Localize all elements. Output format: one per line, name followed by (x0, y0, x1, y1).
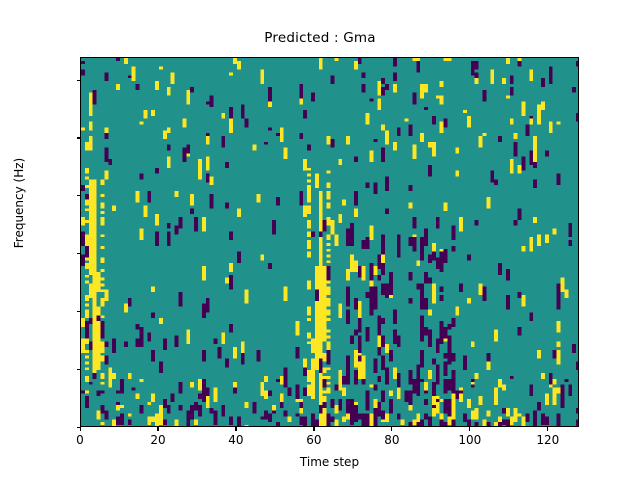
y-tick-mark (77, 137, 81, 138)
x-axis-label: Time step (80, 455, 579, 469)
y-axis-label: Frequency (Hz) (12, 93, 26, 313)
matplotlib-figure: Predicted : Gma 020000400006000080000100… (0, 0, 640, 480)
y-tick-mark (77, 311, 81, 312)
x-tick-mark (80, 427, 81, 431)
heatmap-image (81, 58, 579, 427)
y-tick-mark (77, 369, 81, 370)
x-tick-mark (235, 427, 236, 431)
x-tick-label: 60 (274, 433, 354, 447)
x-tick-label: 100 (430, 433, 510, 447)
heatmap-axes (80, 57, 579, 427)
x-tick-label: 0 (40, 433, 120, 447)
x-tick-mark (391, 427, 392, 431)
chart-title: Predicted : Gma (0, 30, 640, 46)
x-tick-label: 20 (118, 433, 198, 447)
x-tick-mark (547, 427, 548, 431)
x-tick-mark (157, 427, 158, 431)
x-tick-mark (469, 427, 470, 431)
x-tick-label: 80 (352, 433, 432, 447)
y-tick-mark (77, 253, 81, 254)
y-tick-mark (77, 80, 81, 81)
x-tick-label: 120 (508, 433, 588, 447)
y-tick-mark (77, 195, 81, 196)
x-tick-label: 40 (196, 433, 276, 447)
x-tick-mark (313, 427, 314, 431)
